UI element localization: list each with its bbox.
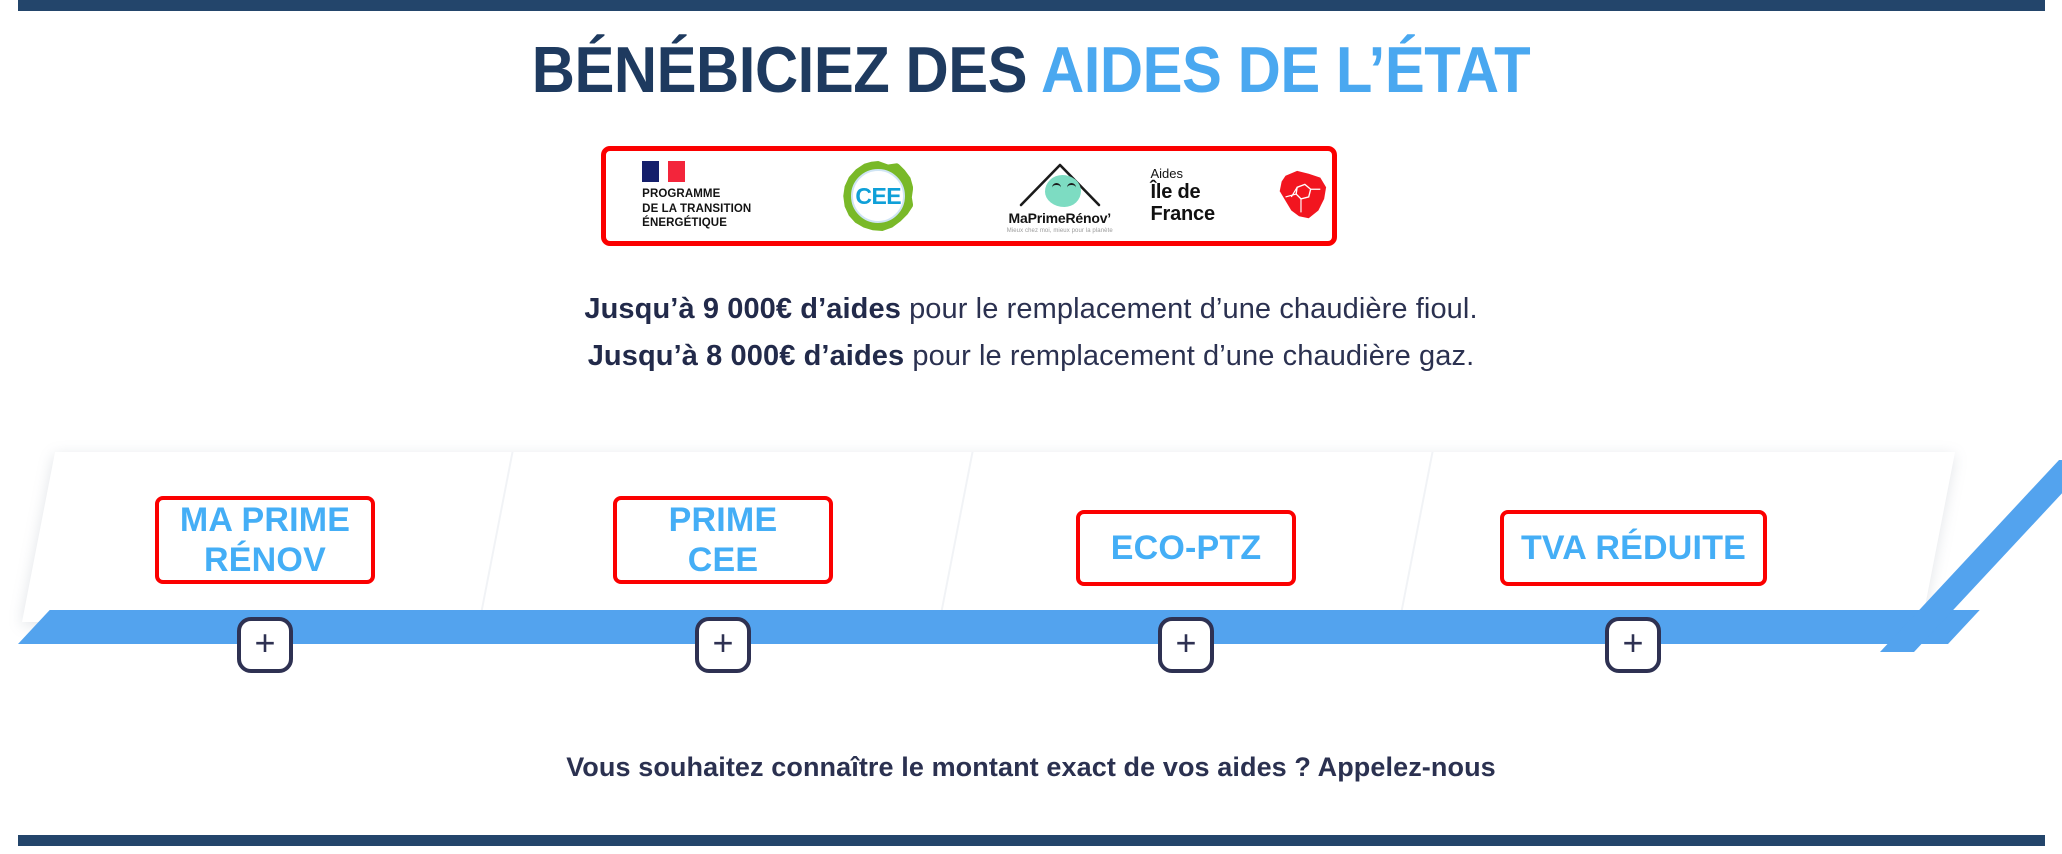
logo-maprimerenov: MaPrimeRénov’ Mieux chez moi, mieux pour… <box>969 151 1151 241</box>
logo-programme-line3: ÉNERGÉTIQUE <box>642 216 751 231</box>
blob-eye-left-icon <box>1052 183 1061 190</box>
expand-button-tva-reduite[interactable]: + <box>1605 617 1661 673</box>
page-title: BÉNÉBICIEZ DES AIDES DE L’ÉTAT <box>82 36 1979 104</box>
house-roof-icon <box>1015 159 1105 209</box>
aid-card-ma-prime-renov[interactable]: MA PRIME RÉNOV <box>155 496 375 584</box>
expand-button-prime-cee[interactable]: + <box>695 617 751 673</box>
aid-amount-line: Jusqu’à 8 000€ d’aides pour le remplacem… <box>0 333 2062 380</box>
aid-card-eco-ptz[interactable]: ECO-PTZ <box>1076 510 1296 586</box>
aid-card-prime-cee[interactable]: PRIME CEE <box>613 496 833 584</box>
logo-idf-line1: Aides <box>1151 167 1267 181</box>
aid-amount-rest: pour le remplacement d’une chaudière gaz… <box>904 340 1474 372</box>
cee-badge-inner: CEE <box>851 169 905 223</box>
aid-card-label: ECO-PTZ <box>1111 528 1262 568</box>
logo-maprimerenov-tagline: Mieux chez moi, mieux pour la planète <box>1007 228 1113 234</box>
page-title-primary: BÉNÉBICIEZ DES <box>532 33 1041 106</box>
contact-prompt: Vous souhaitez connaître le montant exac… <box>0 752 2062 783</box>
aid-card-tva-reduite[interactable]: TVA RÉDUITE <box>1500 510 1767 586</box>
ile-de-france-map-icon <box>1272 167 1332 225</box>
blob-eye-right-icon <box>1067 183 1076 190</box>
logo-programme-text: PROGRAMME DE LA TRANSITION ÉNERGÉTIQUE <box>642 187 751 231</box>
expand-button-eco-ptz[interactable]: + <box>1158 617 1214 673</box>
logo-idf-line2: Île de France <box>1151 181 1267 225</box>
aid-amount-bold: Jusqu’à 8 000€ d’aides <box>588 340 905 372</box>
logo-cee: CEE <box>788 151 970 241</box>
aid-amount-rest: pour le remplacement d’une chaudière fio… <box>901 293 1478 325</box>
expand-button-ma-prime-renov[interactable]: + <box>237 617 293 673</box>
top-divider-bar <box>18 0 2045 11</box>
page-title-accent: AIDES DE L’ÉTAT <box>1041 33 1530 106</box>
aid-amount-lines: Jusqu’à 9 000€ d’aides pour le remplacem… <box>0 286 2062 380</box>
aid-amount-line: Jusqu’à 9 000€ d’aides pour le remplacem… <box>0 286 2062 333</box>
aid-amount-bold: Jusqu’à 9 000€ d’aides <box>584 293 901 325</box>
aids-ribbon: MA PRIME RÉNOV + PRIME CEE + ECO-PTZ + T… <box>0 440 2062 665</box>
ribbon-blue-bar <box>18 610 1980 644</box>
partner-logo-strip: PROGRAMME DE LA TRANSITION ÉNERGÉTIQUE C… <box>601 146 1337 246</box>
plus-icon: + <box>1175 625 1196 661</box>
plus-icon: + <box>712 625 733 661</box>
aid-card-label: MA PRIME RÉNOV <box>180 500 350 580</box>
logo-programme-transition-energetique: PROGRAMME DE LA TRANSITION ÉNERGÉTIQUE <box>606 151 788 241</box>
cee-badge-label: CEE <box>855 183 901 210</box>
aid-card-label: TVA RÉDUITE <box>1521 528 1746 568</box>
logo-maprimerenov-name: MaPrimeRénov’ <box>1009 210 1111 226</box>
french-flag-icon <box>642 161 685 182</box>
aid-card-label: PRIME CEE <box>669 500 778 580</box>
teal-blob-icon <box>1045 175 1081 207</box>
logo-programme-line2: DE LA TRANSITION <box>642 202 751 217</box>
plus-icon: + <box>1622 625 1643 661</box>
plus-icon: + <box>254 625 275 661</box>
bottom-divider-bar <box>18 835 2045 846</box>
logo-programme-line1: PROGRAMME <box>642 187 751 202</box>
logo-aides-ile-de-france: Aides Île de France <box>1151 151 1333 241</box>
